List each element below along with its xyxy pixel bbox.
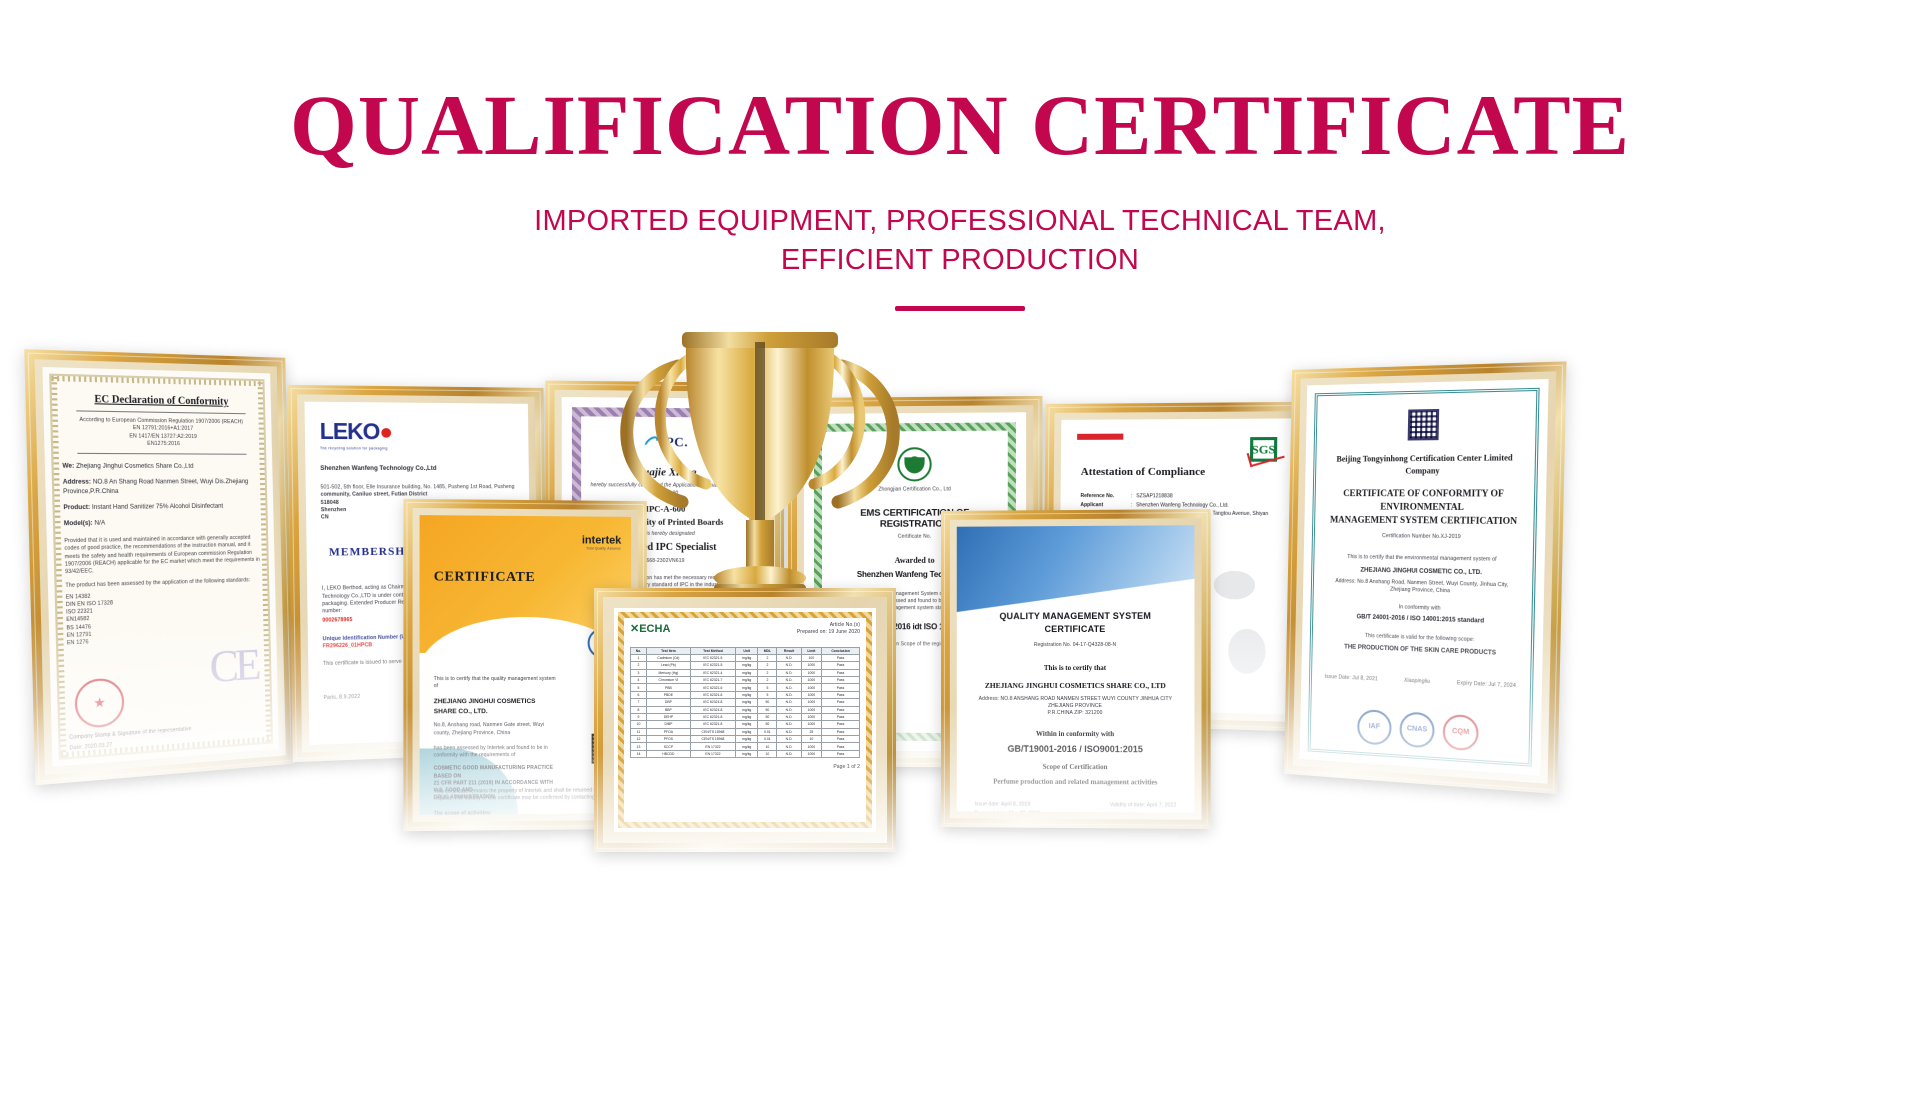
table-row: 9DEHPIEC 62321-8mg/kg50N.D.1000Pass — [631, 713, 860, 720]
table-cell: N.D. — [777, 721, 801, 728]
table-row: 10DIBPIEC 62321-8mg/kg50N.D.1000Pass — [631, 721, 860, 728]
table-cell: IEC 62321-4 — [690, 669, 735, 676]
ec-content: EC Declaration of Conformity According t… — [61, 393, 265, 648]
col-unit: Unit — [736, 647, 758, 654]
table-cell: 1000 — [801, 691, 821, 698]
table-cell: Pass — [822, 684, 860, 691]
intertek-company-1: ZHEJIANG JINGHUI COSMETICS — [434, 696, 558, 707]
ec-body: Provided that it is used and maintained … — [64, 534, 263, 576]
table-cell: PBB — [646, 684, 690, 691]
tq-heading-2: MANAGEMENT SYSTEM CERTIFICATION — [1328, 513, 1520, 528]
leko-company: Shenzhen Wanfeng Technology Co.,Ltd — [320, 465, 515, 474]
intertek-intro: This is to certify that the quality mana… — [434, 676, 558, 691]
table-cell: 50 — [758, 699, 777, 706]
table-cell: Pass — [822, 699, 860, 706]
table-cell: N.D. — [777, 743, 801, 750]
table-cell: N.D. — [777, 654, 801, 661]
table-cell: BBP — [646, 706, 690, 713]
table-cell: N.D. — [777, 669, 801, 676]
table-cell: Pass — [822, 691, 860, 698]
aoc-heading: Attestation of Compliance — [1081, 466, 1275, 478]
table-cell: 9 — [631, 713, 647, 720]
certificate-tongyinhong-environmental[interactable]: Beijing Tongyinhong Certification Center… — [1284, 361, 1567, 794]
table-body: 1Cadmium (Cd)IEC 62321-5mg/kg2N.D.100Pas… — [631, 654, 860, 757]
ec-field-product: Product: Instant Hand Sanitizer 75% Alco… — [63, 502, 261, 513]
table-cell: PBDE — [646, 691, 690, 698]
tq-company-certified: ZHEJIANG JINGHUI COSMETIC CO., LTD. — [1327, 565, 1519, 578]
table-cell: 3 — [631, 669, 647, 676]
table-cell: 5 — [631, 684, 647, 691]
table-cell: 2 — [758, 669, 777, 676]
col-result: Result — [777, 647, 801, 654]
table-cell: mg/kg — [736, 743, 758, 750]
table-cell: mg/kg — [736, 750, 758, 757]
table-cell: mg/kg — [736, 654, 758, 661]
table-cell: 1000 — [801, 662, 821, 669]
table-cell: Pass — [822, 706, 860, 713]
table-cell: 1000 — [801, 669, 821, 676]
ec-field-we: We: Zhejiang Jinghui Cosmetics Share Co.… — [62, 462, 260, 472]
table-row: 5PBBIEC 62321-6mg/kg5N.D.1000Pass — [631, 684, 860, 691]
table-cell: N.D. — [777, 662, 801, 669]
col-test-item: Test Item — [646, 647, 690, 654]
table-cell: Pass — [822, 677, 860, 684]
table-cell: DEHP — [646, 713, 690, 720]
tq-body-1: This is to certify that the environmenta… — [1327, 554, 1519, 565]
table-row: 3Mercury (Hg)IEC 62321-4mg/kg2N.D.1000Pa… — [631, 669, 860, 676]
red-accent-bar — [1077, 434, 1123, 440]
qms-certify-note: This is to certify that — [975, 663, 1177, 674]
qms-address: Address: NO.8 ANSHANG ROAD NANMEN STREET… — [975, 695, 1177, 710]
table-cell: mg/kg — [736, 684, 758, 691]
table-cell: DIBP — [646, 721, 690, 728]
table-cell: 4 — [631, 677, 647, 684]
certificate-paper: QUALITY MANAGEMENT SYSTEM CERTIFICATE Re… — [957, 525, 1195, 812]
intertek-heading: CERTIFICATE — [434, 569, 535, 586]
table-cell: mg/kg — [736, 713, 758, 720]
table-row: 14HBCDDEN 17322mg/kg10N.D.1000Pass — [631, 750, 860, 757]
table-cell: 6 — [631, 691, 647, 698]
table-cell: EN 17322 — [690, 750, 735, 757]
table-cell: N.D. — [777, 713, 801, 720]
table-cell: PFOS — [646, 736, 690, 743]
intertek-conform-note: has been assessed by Intertek and found … — [434, 745, 558, 760]
table-cell: 0.01 — [758, 728, 777, 735]
leko-logo: LEKO● — [320, 418, 515, 446]
tq-number: Certification Number No.XJ-2019 — [1328, 533, 1520, 543]
table-cell: IEC 62321-7 — [690, 677, 735, 684]
table-cell: IEC 62321-5 — [690, 662, 735, 669]
table-cell: IEC 62321-8 — [690, 699, 735, 706]
table-cell: IEC 62321-8 — [690, 721, 735, 728]
qms-standard: GB/T19001-2016 / ISO9001:2015 — [975, 744, 1177, 755]
table-cell: 10 — [801, 736, 821, 743]
table-cell: 7 — [631, 699, 647, 706]
blue-banner — [957, 525, 1195, 612]
table-cell: Mercury (Hg) — [646, 669, 690, 676]
table-cell: IEC 62321-6 — [690, 691, 735, 698]
table-cell: 10 — [758, 750, 777, 757]
table-cell: DBP — [646, 699, 690, 706]
table-cell: CEN/TS 15968 — [690, 736, 735, 743]
table-cell: 0.01 — [758, 736, 777, 743]
ec-field-model: Model(s): N/A — [64, 517, 262, 529]
table-cell: mg/kg — [736, 721, 758, 728]
table-cell: 1000 — [801, 706, 821, 713]
table-cell: mg/kg — [736, 706, 758, 713]
echa-field-prepared: Prepared on: 19 June 2020 — [797, 629, 860, 636]
table-cell: 100 — [801, 654, 821, 661]
table-cell: IEC 62321-6 — [690, 684, 735, 691]
table-cell: N.D. — [777, 677, 801, 684]
table-cell: 1000 — [801, 699, 821, 706]
table-header-row: No. Test Item Test Method Unit MDL Resul… — [631, 647, 860, 654]
col-conclusion: Conclusion — [822, 647, 860, 654]
table-row: 8BBPIEC 62321-8mg/kg50N.D.1000Pass — [631, 706, 860, 713]
table-cell: 1000 — [801, 713, 821, 720]
table-cell: 1000 — [801, 721, 821, 728]
col-mdl: MDL — [758, 647, 777, 654]
ec-standard-3: EN1275:2016 — [62, 440, 260, 449]
ec-field-address: Address: NO.8 An Shang Road Nanmen Stree… — [63, 478, 262, 497]
badge-cnas: CNAS — [1399, 711, 1435, 748]
certificate-paper: Beijing Tongyinhong Certification Center… — [1300, 379, 1549, 776]
echa-page-footer: Page 1 of 2 — [630, 764, 860, 771]
certificates-stage: EC Declaration of Conformity According t… — [0, 0, 1920, 1113]
certificate-paper: EC Declaration of Conformity According t… — [42, 367, 279, 767]
table-cell: 2 — [631, 662, 647, 669]
table-cell: 2 — [758, 677, 777, 684]
table-cell: mg/kg — [736, 677, 758, 684]
intertek-logo: intertek Total Quality. Assured. — [582, 534, 621, 550]
tq-address: Address: No.8 Anshang Road, Nanmen Stree… — [1326, 578, 1518, 598]
ce-mark-icon: CE — [209, 639, 258, 693]
table-cell: mg/kg — [736, 728, 758, 735]
table-cell: 50 — [758, 706, 777, 713]
table-row: 1Cadmium (Cd)IEC 62321-5mg/kg2N.D.100Pas… — [631, 654, 860, 661]
table-cell: 25 — [801, 728, 821, 735]
qms-company: ZHEJIANG JINGHUI COSMETICS SHARE CO., LT… — [975, 679, 1177, 691]
table-cell: Pass — [822, 654, 860, 661]
table-cell: 1000 — [801, 750, 821, 757]
table-cell: N.D. — [777, 728, 801, 735]
col-no: No. — [631, 647, 647, 654]
qms-registration: Registration No. 04-17-Q4328-08-N — [975, 642, 1177, 649]
table-cell: IEC 62321-8 — [690, 706, 735, 713]
table-cell: N.D. — [777, 691, 801, 698]
certification-emblem-icon — [1408, 409, 1440, 441]
table-cell: mg/kg — [736, 669, 758, 676]
qms-valid-date: Validity of date: April 7, 2022 — [1110, 802, 1176, 810]
intertek-company-2: SHARE CO., LTD. — [434, 707, 558, 718]
table-cell: N.D. — [777, 684, 801, 691]
table-cell: 1000 — [801, 677, 821, 684]
table-cell: mg/kg — [736, 662, 758, 669]
table-row: 12PFOSCEN/TS 15968mg/kg0.01N.D.10Pass — [631, 736, 860, 743]
table-row: 13SCCPEN 17322mg/kg10N.D.1000Pass — [631, 743, 860, 750]
echa-results-table: No. Test Item Test Method Unit MDL Resul… — [630, 647, 860, 759]
table-cell: 10 — [631, 721, 647, 728]
table-cell: 50 — [758, 713, 777, 720]
echa-logo: ✕ECHA — [630, 622, 670, 635]
table-cell: 10 — [758, 743, 777, 750]
table-cell: N.D. — [777, 736, 801, 743]
badge-iaf: IAF — [1357, 709, 1392, 746]
table-cell: 50 — [758, 721, 777, 728]
table-cell: Pass — [822, 750, 860, 757]
table-cell: Pass — [822, 736, 860, 743]
table-cell: Pass — [822, 713, 860, 720]
table-cell: 1000 — [801, 684, 821, 691]
sgs-logo-icon: SGS — [1250, 437, 1277, 462]
table-cell: mg/kg — [736, 691, 758, 698]
qms-postcode: P.R.CHINA ZIP: 321200 — [975, 710, 1177, 718]
intertek-footer: This certificate remains the property of… — [434, 787, 618, 803]
qms-scope-label: Scope of Certification — [975, 762, 1177, 774]
table-cell: CEN/TS 15968 — [690, 728, 735, 735]
table-cell: PFOA — [646, 728, 690, 735]
table-cell: 2 — [758, 654, 777, 661]
table-cell: 8 — [631, 706, 647, 713]
echa-field-article: Article No.(s) — [797, 622, 860, 629]
table-cell: Pass — [822, 721, 860, 728]
table-cell: Chromium VI — [646, 677, 690, 684]
table-cell: 1 — [631, 654, 647, 661]
table-row: 11PFOACEN/TS 15968mg/kg0.01N.D.25Pass — [631, 728, 860, 735]
table-cell: Cadmium (Cd) — [646, 654, 690, 661]
table-cell: 11 — [631, 728, 647, 735]
col-test-method: Test Method — [690, 647, 735, 654]
tq-company: Beijing Tongyinhong Certification Center… — [1329, 452, 1521, 478]
table-cell: 2 — [758, 662, 777, 669]
tq-issue-date: Issue Date: Jul 8, 2021 — [1325, 673, 1378, 683]
table-cell: N.D. — [777, 699, 801, 706]
table-cell: Pass — [822, 662, 860, 669]
certificate-echa-report[interactable]: ✕ECHA Article No.(s) Prepared on: 19 Jun… — [594, 588, 896, 852]
intertek-address: No.8, Anshang road, Nanmen Gate street, … — [434, 722, 558, 737]
table-cell: Pass — [822, 728, 860, 735]
tq-standard: GB/T 24001-2016 / ISO 14001:2015 standar… — [1326, 613, 1518, 629]
certificate-quality-management-system[interactable]: QUALITY MANAGEMENT SYSTEM CERTIFICATE Re… — [941, 509, 1211, 829]
table-cell: Pass — [822, 743, 860, 750]
table-cell: HBCDD — [646, 750, 690, 757]
table-cell: 13 — [631, 743, 647, 750]
table-cell: 5 — [758, 691, 777, 698]
qms-conformity-label: Within in conformity with — [975, 729, 1177, 741]
qms-scope: Perfume production and related managemen… — [975, 776, 1177, 788]
table-cell: 14 — [631, 750, 647, 757]
table-row: 2Lead (Pb)IEC 62321-5mg/kg2N.D.1000Pass — [631, 662, 860, 669]
table-cell: mg/kg — [736, 736, 758, 743]
table-row: 6PBDEIEC 62321-6mg/kg5N.D.1000Pass — [631, 691, 860, 698]
table-cell: Pass — [822, 669, 860, 676]
col-limit: Limit — [801, 647, 821, 654]
table-cell: IEC 62321-5 — [690, 654, 735, 661]
table-cell: SCCP — [646, 743, 690, 750]
tq-heading-1: CERTIFICATE OF CONFORMITY OF ENVIRONMENT… — [1328, 487, 1520, 515]
intertek-standard-1: COSMETIC GOOD MANUFACTURING PRACTICE BAS… — [434, 765, 558, 780]
table-cell: 12 — [631, 736, 647, 743]
table-cell: Lead (Pb) — [646, 662, 690, 669]
tq-expiry-date: Expiry Date: Jul 7, 2024 — [1457, 680, 1516, 690]
qms-issue-date: Issue date: April 8, 2019 — [975, 801, 1031, 809]
certificate-ec-declaration[interactable]: EC Declaration of Conformity According t… — [24, 349, 295, 785]
badge-cqm: CQM — [1442, 714, 1478, 752]
tq-signature: Xiaopingliu — [1404, 677, 1430, 686]
table-cell: 5 — [758, 684, 777, 691]
leko-tagline: The recycling solution for packaging — [320, 446, 515, 451]
certificate-paper: ✕ECHA Article No.(s) Prepared on: 19 Jun… — [614, 608, 876, 832]
qualification-certificate-page: QUALIFICATION CERTIFICATE IMPORTED EQUIP… — [0, 0, 1920, 1113]
table-cell: N.D. — [777, 706, 801, 713]
qms-heading-2: CERTIFICATE — [975, 623, 1177, 636]
qms-heading-1: QUALITY MANAGEMENT SYSTEM — [975, 610, 1177, 624]
table-row: 4Chromium VIIEC 62321-7mg/kg2N.D.1000Pas… — [631, 677, 860, 684]
table-row: 7DBPIEC 62321-8mg/kg50N.D.1000Pass — [631, 699, 860, 706]
table-cell: N.D. — [777, 750, 801, 757]
table-cell: IEC 62321-8 — [690, 713, 735, 720]
table-cell: EN 17322 — [690, 743, 735, 750]
table-cell: mg/kg — [736, 699, 758, 706]
table-cell: 1000 — [801, 743, 821, 750]
